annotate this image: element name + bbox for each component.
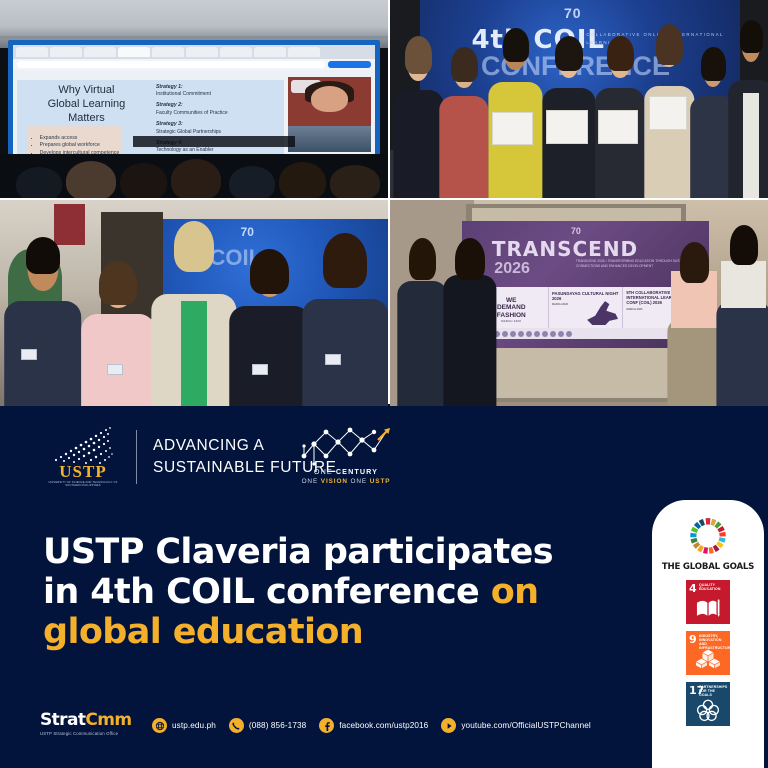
person-blouse <box>181 301 207 406</box>
person <box>717 225 768 406</box>
sdg-panel: THE GLOBAL GOALS 4 QUALITY EDUCATION 9 I… <box>652 500 764 768</box>
person-hair <box>701 47 726 81</box>
person <box>398 233 447 406</box>
certificate <box>649 96 688 130</box>
sponsor-icon <box>550 331 556 337</box>
person-hair <box>174 221 215 272</box>
tarp-panel-pasundayag: PASUNDAYAG CULTURAL NIGHT 2026 MARCH 202… <box>549 287 623 328</box>
slide-title: Why Virtual Global Learning Matters <box>28 84 146 125</box>
stratcomm-c: C <box>85 710 97 730</box>
stratcomm-strat: Strat <box>40 710 85 730</box>
audience-head <box>66 161 116 198</box>
sdg-goal-4-card[interactable]: 4 QUALITY EDUCATION <box>686 580 730 624</box>
sponsor-icon <box>534 331 540 337</box>
poster-canvas: Why Virtual Global Learning Matters Expa… <box>0 0 768 768</box>
headline-line2-text: in 4th COIL conference <box>43 572 491 612</box>
slide-title-line2: Global Learning <box>28 98 146 112</box>
browser-tab <box>84 47 116 57</box>
strategy-text: Strategic Global Partnerships <box>156 129 221 135</box>
person-hair <box>740 20 763 53</box>
browser-tab <box>220 47 252 57</box>
backdrop-anniversary-mark: 70 <box>241 225 254 239</box>
slide-caption-block <box>133 136 296 148</box>
person-hair <box>250 249 289 294</box>
ustp-wordmark: USTP <box>46 462 120 482</box>
stratcomm-subtitle: USTP Strategic Communication Office <box>40 731 144 736</box>
person-body <box>394 90 443 198</box>
person-hair <box>555 36 583 72</box>
projection-screen: Why Virtual Global Learning Matters Expa… <box>8 40 380 167</box>
centennial-one3: ONE <box>348 478 370 485</box>
browser-tab <box>288 47 320 57</box>
contact-phone[interactable]: (088) 856-1738 <box>229 718 306 733</box>
tarp-sponsor-strip <box>475 328 697 339</box>
tarp-event-panels: WE DEMAND FASHION MARCH 2026 PASUNDAYAG … <box>475 287 697 328</box>
audience-head <box>16 167 63 198</box>
strategy-label: Strategy 3: <box>156 121 279 129</box>
strategy-text: Institutional Commitment <box>156 91 211 97</box>
audience-head <box>330 165 380 198</box>
tarp-title: TRANSCEND <box>492 237 638 261</box>
sdg-goal-title: PARTNERSHIPS FOR THE GOALS <box>699 685 728 697</box>
tarp-year: 2026 <box>494 260 530 278</box>
person-shirt <box>743 93 759 198</box>
brand-lockup: USTP UNIVERSITY OF SCIENCE AND TECHNOLOG… <box>46 426 337 488</box>
sdg-wheel-label: THE GLOBAL GOALS <box>662 562 754 572</box>
browser-tab <box>50 47 82 57</box>
sdg-goal-9-card[interactable]: 9 INDUSTRY, INNOVATION AND INFRASTRUCTUR… <box>686 631 730 675</box>
sponsor-icon <box>526 331 532 337</box>
slide-title-line3: Matters <box>28 112 146 126</box>
open-book-icon <box>695 596 721 620</box>
strategy-label: Strategy 2: <box>156 102 279 110</box>
sponsor-icon <box>558 331 564 337</box>
contact-phone-text: (088) 856-1738 <box>249 721 306 730</box>
sponsor-icon <box>518 331 524 337</box>
person-body <box>667 318 720 406</box>
sponsor-icon <box>510 331 516 337</box>
slide-title-line1: Why Virtual <box>28 84 146 98</box>
person-body <box>229 306 310 406</box>
id-badge <box>325 354 341 365</box>
slide-strategy: Strategy 2: Faculty Communities of Pract… <box>156 102 279 117</box>
person-hair <box>405 36 433 74</box>
stratcomm-logo: StratCmm USTP Strategic Communication Of… <box>40 712 144 736</box>
slide-strategy: Strategy 1: Institutional Commitment <box>156 84 279 99</box>
person <box>81 258 155 406</box>
person-hair <box>607 36 634 72</box>
person <box>728 24 768 198</box>
centennial-one: ONE <box>314 467 336 476</box>
audience-head <box>171 159 221 198</box>
person-body <box>81 314 155 406</box>
certificate <box>598 110 638 144</box>
browser-tab <box>16 47 48 57</box>
browser-tab <box>186 47 218 57</box>
headline-line1: USTP Claveria participates <box>43 533 603 573</box>
video-call-speaker-tile <box>288 77 371 126</box>
photo-transcend-tarpaulin: 70 TRANSCEND 2026 TRANSCEND 2026 • TRANS… <box>390 200 768 406</box>
video-call-room-tile <box>288 126 371 152</box>
browser-window: Why Virtual Global Learning Matters Expa… <box>13 45 374 162</box>
slide-bullet: Expands access <box>40 135 120 143</box>
person <box>303 233 388 406</box>
browser-tab <box>254 47 286 57</box>
contact-youtube-text: youtube.com/OfficialUSTPChannel <box>461 721 590 730</box>
person-hair <box>99 261 137 305</box>
browser-tab <box>118 47 150 57</box>
browser-url-field <box>17 61 325 68</box>
person <box>542 36 595 198</box>
person-hair <box>26 237 60 274</box>
id-badge <box>107 364 123 375</box>
person <box>229 245 310 406</box>
centennial-one2: ONE <box>302 478 321 485</box>
person-hair <box>323 233 367 288</box>
backdrop-anniversary-mark: 70 <box>564 5 582 21</box>
browser-tab <box>152 47 184 57</box>
person <box>394 40 443 198</box>
photo-presentation-screen: Why Virtual Global Learning Matters Expa… <box>0 0 388 198</box>
person-hair <box>680 242 709 283</box>
person <box>439 44 488 198</box>
person-hair <box>451 47 478 83</box>
centennial-ustp: USTP <box>370 478 391 485</box>
globe-icon <box>152 718 167 733</box>
photo-collage: Why Virtual Global Learning Matters Expa… <box>0 0 768 404</box>
strategy-text: Technology as an Enabler <box>156 147 214 153</box>
strategy-text: Faculty Communities of Practice <box>156 110 228 116</box>
headline-line3: global education <box>43 613 603 653</box>
footer-bar: StratCmm USTP Strategic Communication Of… <box>0 698 652 768</box>
person-top <box>721 261 766 308</box>
certificate <box>546 110 587 144</box>
centennial-network-icon <box>296 426 396 470</box>
sdg-goal-17-card[interactable]: 17 PARTNERSHIPS FOR THE GOALS <box>686 682 730 726</box>
panel-date: MARCH 2026 <box>552 303 619 306</box>
person-hair <box>503 28 530 61</box>
person <box>443 229 496 406</box>
person-body <box>717 301 768 406</box>
stratcomm-wordmark: StratCmm <box>40 712 144 729</box>
slide-strategy: Strategy 3: Strategic Global Partnership… <box>156 121 279 136</box>
photo-delegation-with-guest: 70 COIL <box>0 200 388 406</box>
audience-head <box>120 163 167 198</box>
person-hair <box>656 24 683 65</box>
person <box>489 32 542 198</box>
brand-bar: USTP UNIVERSITY OF SCIENCE AND TECHNOLOG… <box>0 404 768 512</box>
browser-addressbar <box>13 59 374 71</box>
slide-bullet: Prepares global workforce <box>40 142 120 150</box>
facebook-icon <box>319 718 334 733</box>
audience-silhouettes <box>0 154 388 198</box>
person <box>151 225 236 406</box>
slide-left-column: Why Virtual Global Learning Matters Expa… <box>28 84 146 159</box>
slide-right-column: Strategy 1: Institutional Commitment Str… <box>156 84 279 162</box>
sponsor-icon <box>566 331 572 337</box>
contact-youtube[interactable]: youtube.com/OfficialUSTPChannel <box>441 718 590 733</box>
contact-facebook[interactable]: facebook.com/ustp2016 <box>319 718 428 733</box>
centennial-line2: ONE VISION ONE USTP <box>296 478 396 485</box>
id-badge <box>252 364 268 375</box>
person-body <box>443 275 496 406</box>
person-body <box>303 299 388 406</box>
ustp-logo: USTP UNIVERSITY OF SCIENCE AND TECHNOLOG… <box>46 426 120 488</box>
person <box>645 28 694 198</box>
wall-trim <box>0 36 388 39</box>
browser-tabstrip <box>13 45 374 59</box>
photo-group-with-certificates: 70 4th COIL COLLABORATIVE ONLINE INTERNA… <box>390 0 768 198</box>
youtube-icon <box>441 718 456 733</box>
centennial-century: CENTURY <box>336 467 378 476</box>
sdg-colour-wheel-icon <box>686 514 730 558</box>
person-body <box>4 301 82 406</box>
person <box>667 237 720 406</box>
person-hair <box>730 225 758 265</box>
headline-line2: in 4th COIL conference on <box>43 573 603 613</box>
sponsor-icon <box>502 331 508 337</box>
audience-head <box>229 166 276 198</box>
person-hair <box>409 238 436 280</box>
brand-divider <box>136 430 137 484</box>
person-hair <box>455 238 485 281</box>
sdg-goal-title: QUALITY EDUCATION <box>699 583 728 591</box>
person-body <box>439 96 488 198</box>
contact-facebook-text: facebook.com/ustp2016 <box>339 721 428 730</box>
cubes-icon <box>695 647 721 671</box>
contact-website[interactable]: ustp.edu.ph <box>152 718 216 733</box>
centennial-line1: ONE CENTURY <box>296 467 396 476</box>
audience-head <box>279 162 326 198</box>
ustp-logo-subtitle: UNIVERSITY OF SCIENCE AND TECHNOLOGY OF … <box>46 481 120 489</box>
sdg-goal-number: 4 <box>689 583 697 594</box>
stratcomm-mm: mm <box>97 710 131 730</box>
contact-website-text: ustp.edu.ph <box>172 721 216 730</box>
contact-list: ustp.edu.ph (088) 856-1738 facebook.com/… <box>152 718 591 733</box>
centennial-vision: VISION <box>321 478 348 485</box>
browser-action-button <box>328 61 370 68</box>
strategy-label: Strategy 1: <box>156 84 279 92</box>
person <box>4 237 82 406</box>
interlocking-circles-icon <box>695 698 721 722</box>
speaker-face <box>311 86 348 111</box>
phone-icon <box>229 718 244 733</box>
ustp-dot-swoosh-icon <box>50 426 116 464</box>
page-title: USTP Claveria participates in 4th COIL c… <box>43 533 603 653</box>
headline-accent-on: on <box>491 572 539 612</box>
certificate <box>492 112 533 145</box>
person-body <box>398 281 447 406</box>
id-badge <box>21 349 37 360</box>
centennial-logo: ONE CENTURY ONE VISION ONE USTP <box>296 426 396 488</box>
tarp-anniversary-mark: 70 <box>571 226 581 236</box>
sponsor-icon <box>542 331 548 337</box>
panel-pasundayag-text: PASUNDAYAG CULTURAL NIGHT 2026 <box>552 291 619 301</box>
sdg-goal-number: 9 <box>689 634 697 645</box>
person <box>595 36 644 198</box>
